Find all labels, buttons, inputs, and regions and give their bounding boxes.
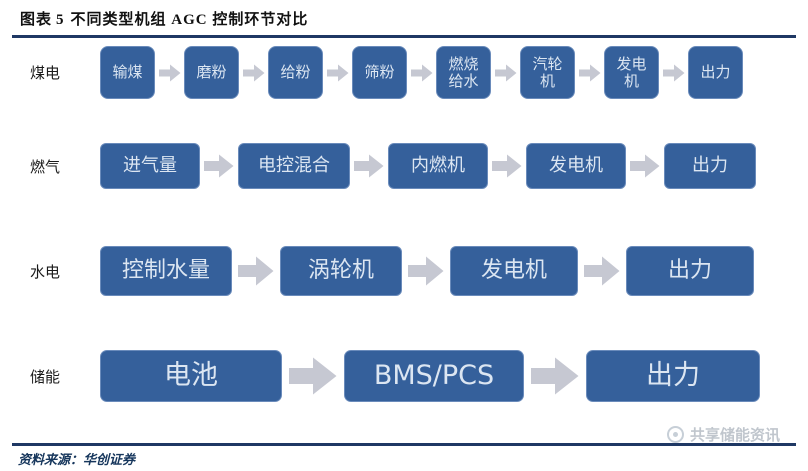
flow-node[interactable]: 出力 xyxy=(688,46,743,99)
figure-number: 5 xyxy=(52,12,71,28)
flow-chain-storage: 电池 BMS/PCS 出力 xyxy=(100,350,800,402)
flow-row-coal: 煤电 输煤 磨粉 给粉 xyxy=(8,46,800,99)
node-line: 电池 xyxy=(164,361,218,390)
node-line: 燃烧 xyxy=(448,56,478,72)
node-line: 发电 xyxy=(616,56,646,72)
flow-node[interactable]: 筛粉 xyxy=(352,46,407,99)
flow-node[interactable]: 控制水量 xyxy=(100,246,232,296)
row-label-storage: 储能 xyxy=(8,366,100,387)
arrow-icon xyxy=(239,64,268,82)
node-line: 输煤 xyxy=(112,64,142,80)
flow-node[interactable]: 给粉 xyxy=(268,46,323,99)
arrow-icon xyxy=(350,154,388,178)
row-label-gas: 燃气 xyxy=(8,156,100,177)
flow-node[interactable]: 内燃机 xyxy=(388,143,488,189)
flow-row-storage: 储能 电池 BMS/PCS 出力 xyxy=(8,350,800,402)
node-line: 涡轮机 xyxy=(308,259,374,283)
figure-container: 图表5不同类型机组 AGC 控制环节对比 煤电 输煤 磨粉 xyxy=(0,0,808,471)
flow-node[interactable]: 出力 xyxy=(664,143,756,189)
arrow-icon xyxy=(524,357,586,395)
watermark: 共享储能资讯 xyxy=(667,424,780,445)
flow-node[interactable]: 进气量 xyxy=(100,143,200,189)
arrow-icon xyxy=(200,154,238,178)
flow-chain-gas: 进气量 电控混合 内燃机 发电机 xyxy=(100,143,800,189)
flow-node[interactable]: 汽轮 机 xyxy=(520,46,575,99)
arrow-icon xyxy=(578,256,626,286)
flow-chain-coal: 输煤 磨粉 给粉 筛粉 xyxy=(100,46,800,99)
node-line: 汽轮 xyxy=(532,56,562,72)
figure-title-text: 不同类型机组 AGC 控制环节对比 xyxy=(71,12,309,28)
flow-node[interactable]: 燃烧 给水 xyxy=(436,46,491,99)
node-line: 进气量 xyxy=(123,156,177,175)
node-line: 机 xyxy=(624,73,639,89)
node-line: 发电机 xyxy=(481,259,547,283)
flow-node[interactable]: 发电机 xyxy=(526,143,626,189)
node-line: 给粉 xyxy=(280,64,310,80)
node-line: 内燃机 xyxy=(411,156,465,175)
flow-node[interactable]: 电控混合 xyxy=(238,143,350,189)
flow-node[interactable]: 输煤 xyxy=(100,46,155,99)
node-line: 电控混合 xyxy=(258,156,330,175)
watermark-text: 共享储能资讯 xyxy=(690,424,780,445)
flow-node[interactable]: BMS/PCS xyxy=(344,350,524,402)
flow-node[interactable]: 出力 xyxy=(586,350,760,402)
node-line: 磨粉 xyxy=(196,64,226,80)
arrow-icon xyxy=(626,154,664,178)
circle-logo-icon xyxy=(667,426,684,443)
flow-chain-hydro: 控制水量 涡轮机 发电机 出力 xyxy=(100,246,800,296)
node-line: 筛粉 xyxy=(364,64,394,80)
flow-node[interactable]: 涡轮机 xyxy=(280,246,402,296)
flow-row-hydro: 水电 控制水量 涡轮机 发电机 xyxy=(8,246,800,296)
node-line: 出力 xyxy=(646,361,700,390)
node-line: 机 xyxy=(540,73,555,89)
flow-node[interactable]: 磨粉 xyxy=(184,46,239,99)
node-line: 出力 xyxy=(668,259,712,283)
arrow-icon xyxy=(407,64,436,82)
node-line: 控制水量 xyxy=(122,259,210,283)
arrow-icon xyxy=(488,154,526,178)
flow-node[interactable]: 发电 机 xyxy=(604,46,659,99)
arrow-icon xyxy=(155,64,184,82)
flow-rows: 煤电 输煤 磨粉 给粉 xyxy=(8,38,800,408)
arrow-icon xyxy=(575,64,604,82)
figure-label: 图表 xyxy=(20,12,52,28)
node-line: 给水 xyxy=(448,73,478,89)
page-title: 图表5不同类型机组 AGC 控制环节对比 xyxy=(20,8,790,29)
flow-node[interactable]: 发电机 xyxy=(450,246,578,296)
arrow-icon xyxy=(232,256,280,286)
arrow-icon xyxy=(402,256,450,286)
footer-divider xyxy=(12,443,796,446)
node-line: BMS/PCS xyxy=(374,361,494,390)
flow-row-gas: 燃气 进气量 电控混合 内燃机 xyxy=(8,143,800,189)
flow-node[interactable]: 出力 xyxy=(626,246,754,296)
arrow-icon xyxy=(491,64,520,82)
source-note: 资料来源：华创证券 xyxy=(18,449,135,468)
node-line: 发电机 xyxy=(549,156,603,175)
arrow-icon xyxy=(659,64,688,82)
flow-node[interactable]: 电池 xyxy=(100,350,282,402)
figure-header: 图表5不同类型机组 AGC 控制环节对比 xyxy=(8,0,800,33)
node-line: 出力 xyxy=(700,64,730,80)
row-label-hydro: 水电 xyxy=(8,261,100,282)
arrow-icon xyxy=(282,357,344,395)
node-line: 出力 xyxy=(692,156,728,175)
arrow-icon xyxy=(323,64,352,82)
row-label-coal: 煤电 xyxy=(8,62,100,83)
